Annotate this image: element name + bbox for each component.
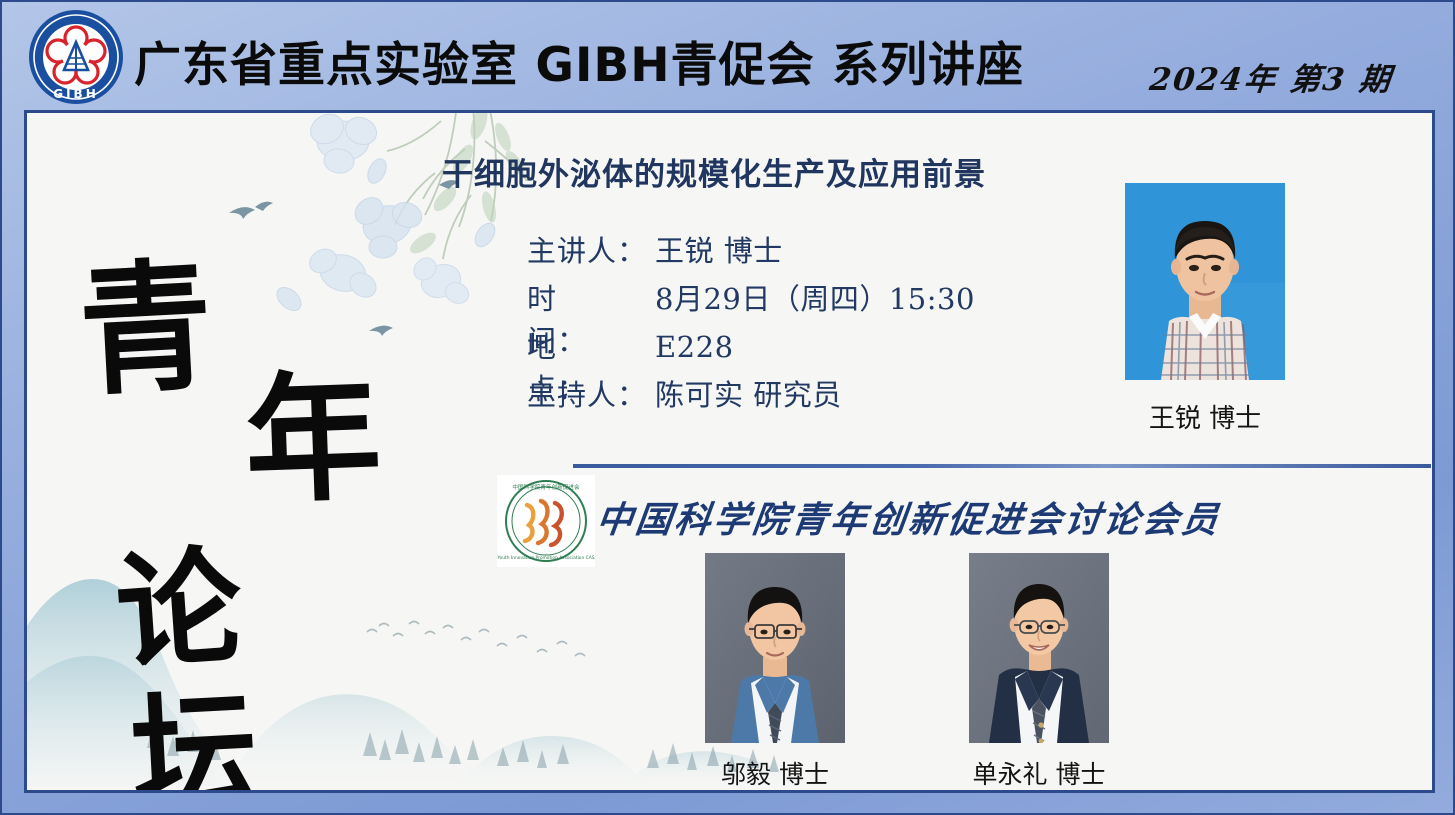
calligraphy-char-4: 坛 (129, 687, 262, 793)
info-row-speaker: 主讲人： 王锐 博士 (527, 228, 1087, 276)
calligraphy-char-3: 论 (112, 542, 246, 678)
speaker-portrait-wang-rui (1125, 183, 1285, 380)
gibh-institute-logo: GIBH (20, 8, 132, 106)
discussant-portrait-wu-yi (705, 553, 845, 743)
discussant-card-2: 单永礼 博士 (969, 553, 1109, 791)
svg-text:Youth Innovation Promotion Ass: Youth Innovation Promotion Association C… (497, 555, 595, 561)
lecture-title: 干细胞外泌体的规模化生产及应用前景 (442, 149, 1122, 194)
calligraphy-qingnian-luntan: 青 年 论 坛 (55, 141, 455, 781)
svg-text:GIBH: GIBH (53, 87, 99, 101)
info-row-location: 地 点： E228 (527, 324, 1087, 372)
discussant-list: 邬毅 博士 (627, 553, 1187, 791)
info-row-host: 主持人： 陈可实 研究员 (527, 372, 1087, 420)
header-issue-number: 2024年 第3 期 (1148, 54, 1395, 99)
yipa-cas-logo: 中国科学院青年创新促进会 Youth Innovation Promotion … (497, 475, 595, 567)
info-value-location: E228 (655, 330, 734, 364)
info-label-speaker: 主讲人： (527, 228, 655, 270)
discussant-card-1: 邬毅 博士 (705, 553, 845, 791)
speaker-name-label: 王锐 博士 (1105, 398, 1305, 435)
yipa-banner-text: 中国科学院青年创新促进会讨论会员 (594, 491, 1224, 543)
info-value-speaker: 王锐 博士 (655, 228, 783, 270)
speaker-card: 王锐 博士 (1105, 183, 1305, 435)
info-value-host: 陈可实 研究员 (655, 372, 842, 414)
section-divider (573, 464, 1431, 468)
info-row-time: 时 间： 8月29日（周四）15:30 (527, 276, 1087, 324)
poster-header: GIBH 广东省重点实验室 GIBH青促会 系列讲座 2024年 第3 期 (2, 2, 1455, 108)
discussant-portrait-shan-yongli (969, 553, 1109, 743)
info-value-time: 8月29日（周四）15:30 (655, 276, 975, 318)
lecture-info-block: 主讲人： 王锐 博士 时 间： 8月29日（周四）15:30 地 点： E228… (527, 228, 1087, 420)
content-panel: 青 年 论 坛 干细胞外泌体的规模化生产及应用前景 主讲人： 王锐 博士 时 间… (24, 110, 1435, 793)
calligraphy-char-1: 青 (76, 255, 216, 403)
info-label-host: 主持人： (527, 372, 655, 414)
poster-root: GIBH 广东省重点实验室 GIBH青促会 系列讲座 2024年 第3 期 (0, 0, 1455, 815)
calligraphy-char-2: 年 (243, 367, 384, 510)
header-title: 广东省重点实验室 GIBH青促会 系列讲座 (134, 26, 1024, 95)
discussant-name-1: 邬毅 博士 (705, 755, 845, 791)
svg-text:中国科学院青年创新促进会: 中国科学院青年创新促进会 (512, 483, 580, 491)
discussant-name-2: 单永礼 博士 (969, 755, 1109, 791)
